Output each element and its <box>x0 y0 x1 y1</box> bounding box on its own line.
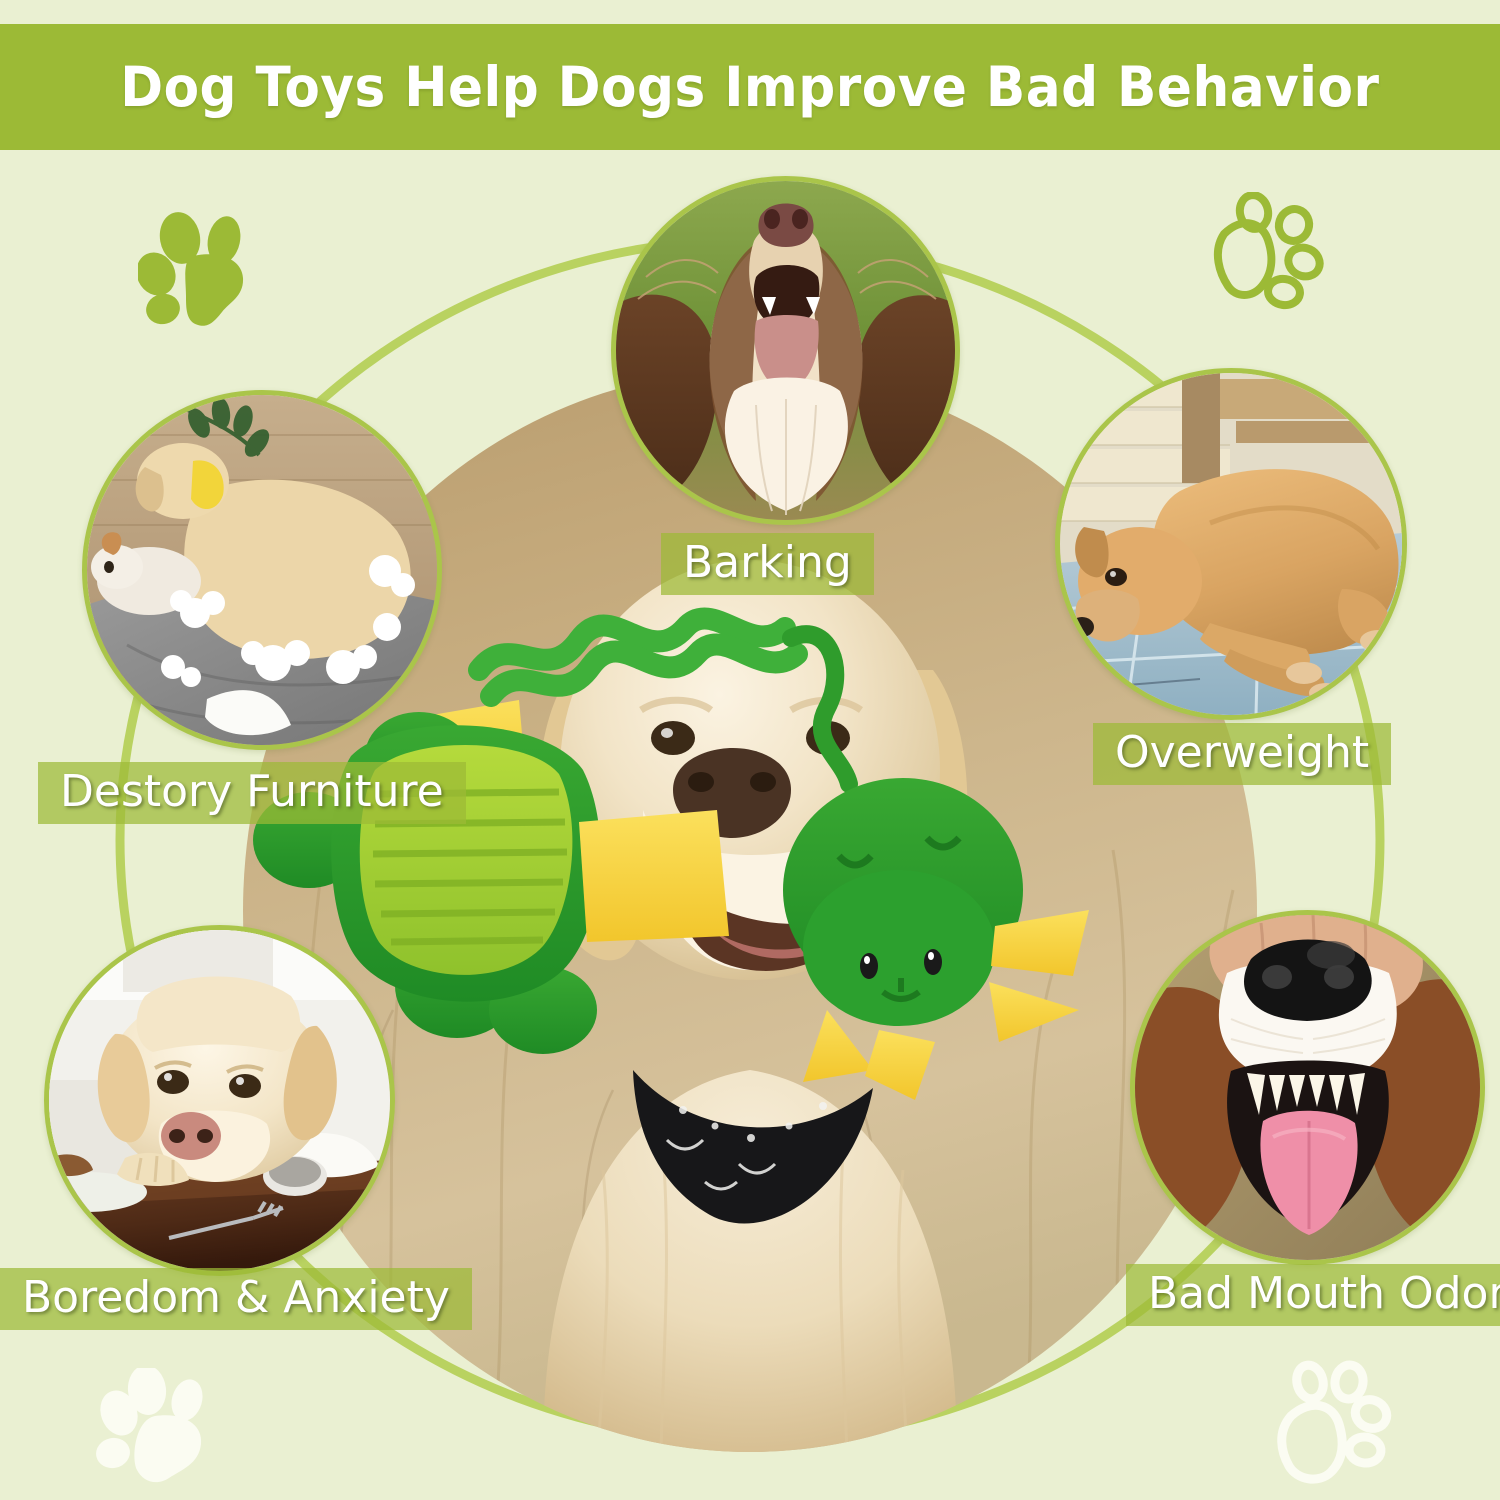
label-destroy-furniture-text: Destory Furniture <box>60 766 444 817</box>
label-destroy-furniture: Destory Furniture <box>38 762 466 824</box>
label-barking: Barking <box>661 533 874 595</box>
label-overweight-text: Overweight <box>1115 727 1369 778</box>
label-bad-mouth-odor-text: Bad Mouth Odor <box>1148 1268 1500 1319</box>
label-overweight: Overweight <box>1093 723 1391 785</box>
paw-print-top-right-icon <box>1200 192 1330 315</box>
photo-bad-mouth-odor <box>1130 910 1485 1265</box>
photo-overweight-dog <box>1055 368 1407 720</box>
label-boredom-anxiety-text: Boredom & Anxiety <box>22 1272 450 1323</box>
photo-destroy-furniture <box>82 390 442 750</box>
photo-barking-dog <box>611 176 960 525</box>
paw-print-top-left-icon <box>138 212 263 332</box>
label-barking-text: Barking <box>683 537 852 588</box>
label-bad-mouth-odor: Bad Mouth Odor <box>1126 1264 1500 1326</box>
paw-print-bottom-right-icon <box>1265 1360 1400 1490</box>
infographic-canvas: Destory Furniture Barking Overweight Bor… <box>0 0 1500 1500</box>
page-title: Dog Toys Help Dogs Improve Bad Behavior <box>120 55 1379 119</box>
header-banner: Dog Toys Help Dogs Improve Bad Behavior <box>0 24 1500 150</box>
label-boredom-anxiety: Boredom & Anxiety <box>0 1268 472 1330</box>
paw-print-bottom-left-icon <box>95 1368 220 1493</box>
photo-boredom-anxiety <box>44 925 395 1276</box>
